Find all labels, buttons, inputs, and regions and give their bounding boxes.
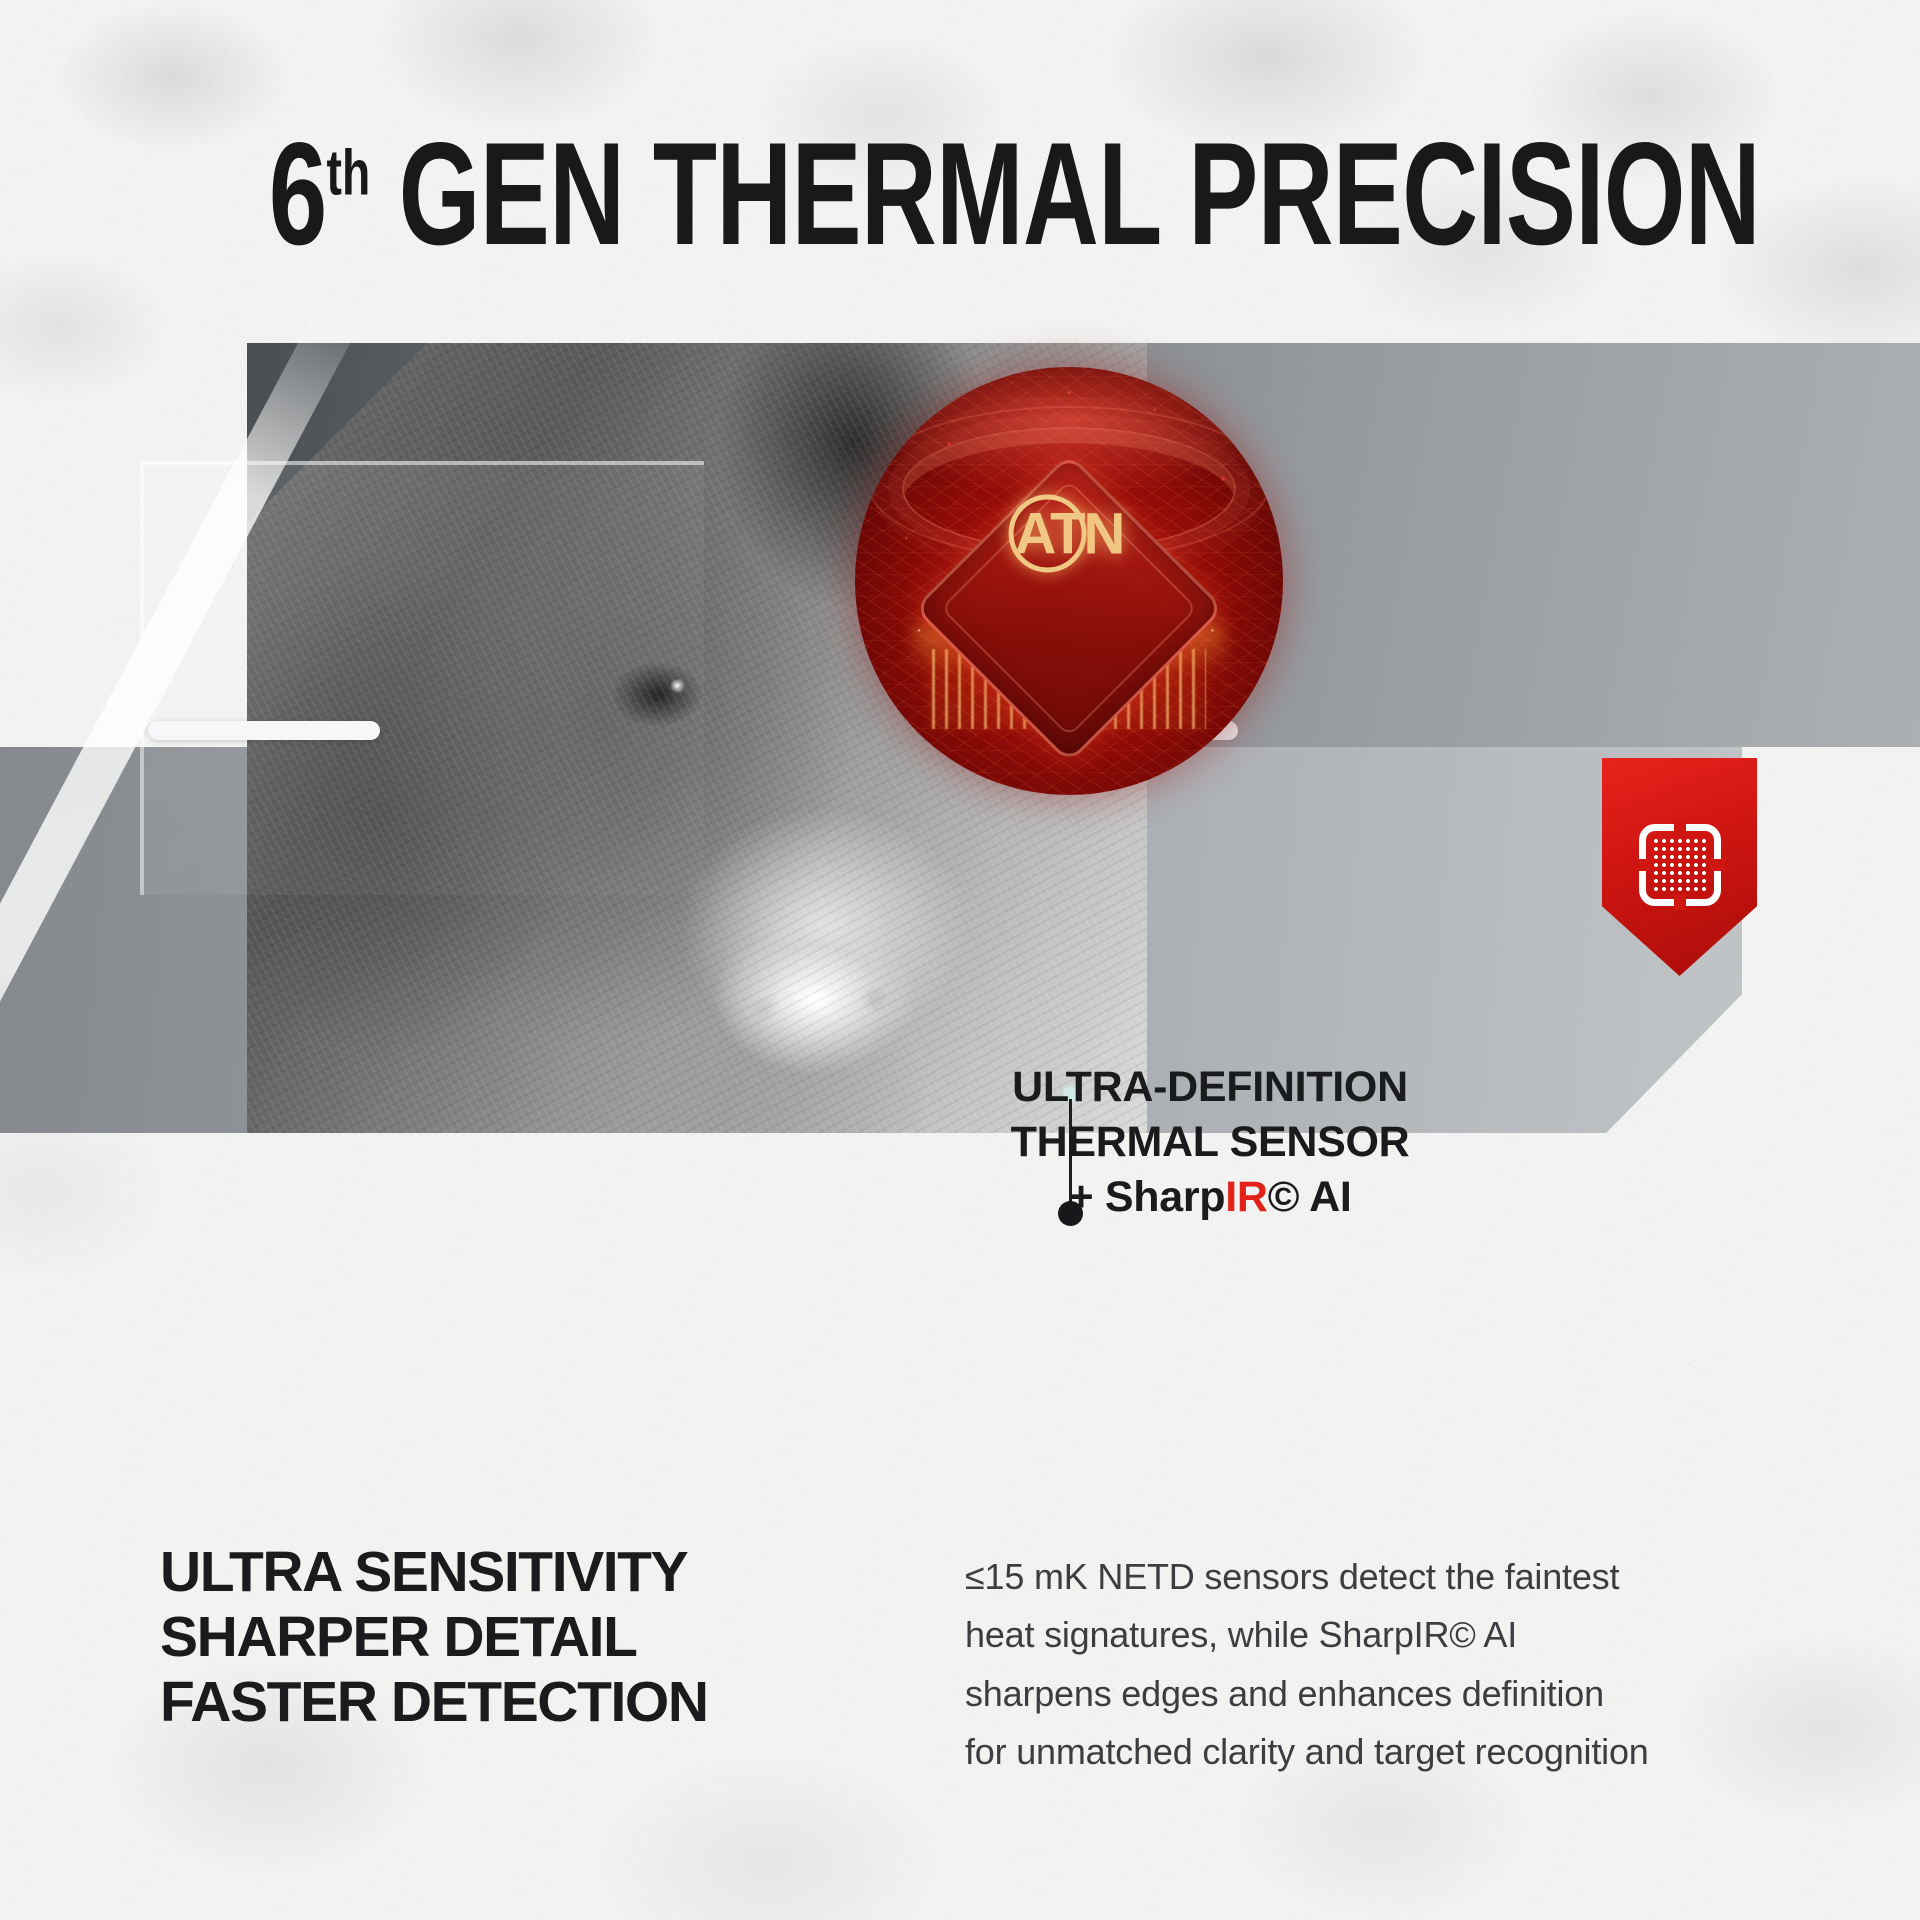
callout-ir-accent: IR [1225, 1173, 1267, 1221]
headline-number: 6 [269, 112, 327, 275]
bottom-heading-line-2: SHARPER DETAIL [160, 1605, 840, 1670]
sensor-array-icon [1639, 824, 1721, 906]
bottom-heading-line-3: FASTER DETECTION [160, 1670, 840, 1735]
bottom-body-line-1: ≤15 mK NETD sensors detect the faintest [965, 1548, 1815, 1606]
callout-label: ULTRA-DEFINITION THERMAL SENSOR + SharpI… [880, 1060, 1540, 1225]
bottom-body-line-4: for unmatched clarity and target recogni… [965, 1723, 1815, 1781]
sensor-icon-notch-right [1709, 859, 1725, 871]
bottom-heading-line-1: ULTRA SENSITIVITY [160, 1540, 840, 1605]
thermal-chip-graphic: ATN [855, 367, 1283, 795]
callout-line-1: ULTRA-DEFINITION [880, 1060, 1540, 1115]
bottom-heading: ULTRA SENSITIVITY SHARPER DETAIL FASTER … [160, 1540, 840, 1735]
hero-panel: ATN [0, 343, 1920, 1133]
sensor-icon-notch-top [1674, 820, 1686, 836]
bottom-body-line-3: sharpens edges and enhances definition [965, 1665, 1815, 1723]
callout-sharp-suffix: © AI [1268, 1173, 1352, 1221]
callout-line-2: THERMAL SENSOR [880, 1115, 1540, 1170]
callout-sharp-prefix: + Sharp [1068, 1173, 1225, 1221]
headline-rest: GEN THERMAL PRECISION [370, 112, 1760, 275]
sensor-icon-notch-left [1635, 859, 1651, 871]
bottom-body-line-2: heat signatures, while SharpIR© AI [965, 1606, 1815, 1664]
headline-ordinal: th [327, 136, 371, 208]
infographic-canvas: 6th GEN THERMAL PRECISION ATN [0, 0, 1920, 1920]
chip-light-specks [855, 367, 1283, 795]
bottom-body-text: ≤15 mK NETD sensors detect the faintest … [965, 1548, 1815, 1781]
accent-bar-left [148, 721, 380, 740]
sensor-icon-notch-bottom [1674, 894, 1686, 910]
page-title: 6th GEN THERMAL PRECISION [269, 120, 1651, 269]
callout-line-3: + SharpIR© AI [880, 1170, 1540, 1225]
sensor-icon-pixel-grid [1654, 839, 1706, 891]
